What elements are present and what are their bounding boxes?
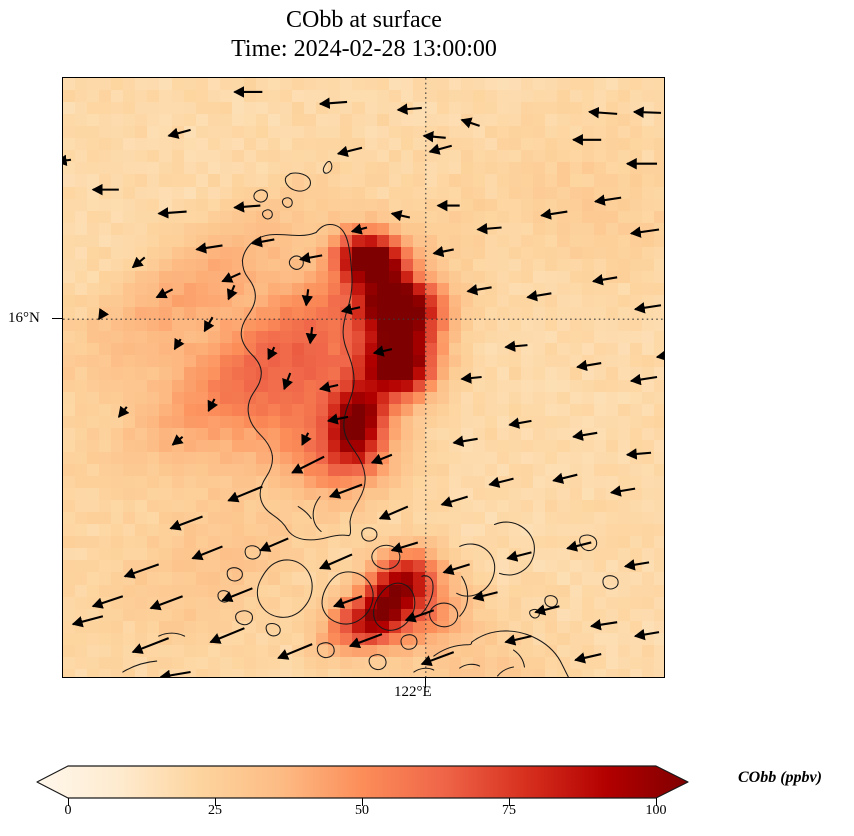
cbar-tick-label-100: 100 <box>626 803 686 819</box>
wind-vector-overlay <box>63 78 664 677</box>
cbar-tick-label-25: 25 <box>185 803 245 819</box>
page-title: CObb at surface <box>0 6 728 35</box>
figure-title: CObb at surface Time: 2024-02-28 13:00:0… <box>0 6 728 65</box>
lat-tick-16N <box>52 318 62 319</box>
cbar-tick-label-0: 0 <box>38 803 98 819</box>
map-plot-area[interactable] <box>62 77 665 678</box>
latitude-label-16N: 16°N <box>8 310 40 327</box>
cbar-tick-label-75: 75 <box>479 803 539 819</box>
longitude-label-122E: 122°E <box>394 684 432 701</box>
figure-subtitle-time: Time: 2024-02-28 13:00:00 <box>0 35 728 64</box>
cbar-tick-label-50: 50 <box>332 803 392 819</box>
colorbar-title: CObb (ppbv) <box>738 769 822 787</box>
